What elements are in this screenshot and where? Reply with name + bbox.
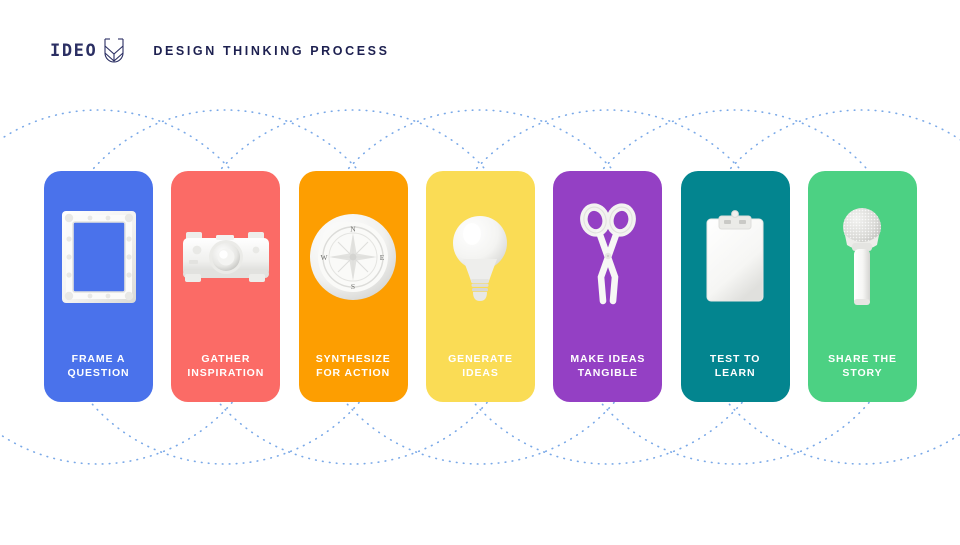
step-card-label: FRAME A QUESTION (48, 352, 149, 380)
step-card-generate-ideas[interactable]: GENERATE IDEAS (426, 171, 535, 402)
step-card-label: SHARE THE STORY (812, 352, 913, 380)
slide-canvas: IDEO DESIGN THINKING PROCESS (0, 0, 960, 540)
header: IDEO DESIGN THINKING PROCESS (50, 36, 390, 66)
step-card-label: MAKE IDEAS TANGIBLE (557, 352, 658, 380)
brand-wordmark: IDEO (50, 43, 97, 60)
lightbulb-icon (426, 197, 535, 317)
microphone-icon (808, 197, 917, 317)
page-title: DESIGN THINKING PROCESS (153, 44, 389, 58)
camera-icon (171, 197, 280, 317)
ideo-u-monogram-icon (103, 37, 125, 65)
step-card-label: SYNTHESIZE FOR ACTION (303, 352, 404, 380)
step-card-synthesize-for-action[interactable]: N E S W SYNTHESIZE FOR ACTION (299, 171, 408, 402)
picture-frame-icon (44, 197, 153, 317)
svg-text:S: S (351, 282, 355, 291)
svg-text:N: N (350, 225, 356, 234)
scissors-icon (553, 197, 662, 317)
ideo-u-logo[interactable]: IDEO (50, 37, 125, 65)
step-card-test-to-learn[interactable]: TEST TO LEARN (681, 171, 790, 402)
step-card-label: GENERATE IDEAS (430, 352, 531, 380)
svg-text:E: E (380, 253, 385, 262)
compass-icon: N E S W (299, 197, 408, 317)
clipboard-icon (681, 197, 790, 317)
svg-text:W: W (321, 253, 329, 262)
step-card-label: TEST TO LEARN (685, 352, 786, 380)
step-card-frame-a-question[interactable]: FRAME A QUESTION (44, 171, 153, 402)
step-card-make-ideas-tangible[interactable]: MAKE IDEAS TANGIBLE (553, 171, 662, 402)
step-card-gather-inspiration[interactable]: GATHER INSPIRATION (171, 171, 280, 402)
step-card-share-the-story[interactable]: SHARE THE STORY (808, 171, 917, 402)
step-card-label: GATHER INSPIRATION (175, 352, 276, 380)
process-step-cards: FRAME A QUESTION (44, 171, 917, 402)
